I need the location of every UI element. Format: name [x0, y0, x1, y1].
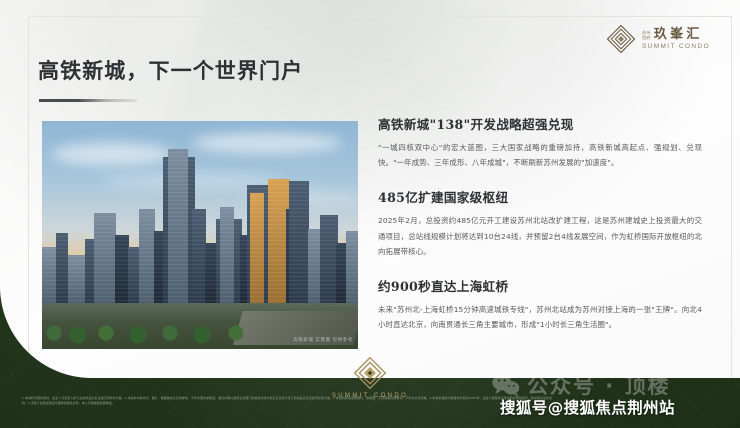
feature-section: 约900秒直达上海虹桥 未来"苏州北-上海虹桥15分钟高速城铁专线"，苏州北站成…: [378, 276, 702, 332]
title-underline: [39, 99, 137, 102]
brand-words: 苏州 首府 玖峯汇 SUMMIT CONDO: [642, 28, 710, 50]
feature-section: 485亿扩建国家级枢纽 2025年2月，总投资约485亿元开工建设苏州北站改扩建…: [378, 187, 702, 259]
photo-trees: [46, 321, 276, 345]
sohu-watermark: 搜狐号@搜狐焦点荆州站: [500, 396, 675, 418]
suzhou-north-station-skyline-photo: 高铁新城 实景图 仅供参考: [42, 121, 358, 349]
brand-tiny-bottom: 首府: [642, 35, 651, 40]
brand-lockup: 苏州 首府 玖峯汇 SUMMIT CONDO: [606, 24, 710, 54]
card-right-rule: [731, 16, 732, 378]
brand-name-cn: 玖峯汇: [654, 28, 703, 41]
content-card: 苏州 首府 玖峯汇 SUMMIT CONDO 高铁新城，下一个世界门户: [0, 0, 740, 378]
photo-watermark: 高铁新城 实景图 仅供参考: [293, 337, 353, 343]
feature-section: 高铁新城"138"开发战略超强兑现 "一城四核双中心"的宏大蓝图，三大国家战略的…: [378, 114, 702, 170]
feature-body: "一城四核双中心"的宏大蓝图，三大国家战略的重磅加持，高铁新城高起点、强规划、兑…: [378, 140, 702, 170]
feature-body: 2025年2月，总投资约485亿元开工建设苏州北站改扩建工程，这是苏州建城史上投…: [378, 213, 702, 259]
feature-heading: 高铁新城"138"开发战略超强兑现: [378, 114, 702, 133]
wechat-icon: [492, 373, 520, 397]
promo-page: 苏州 首府 玖峯汇 SUMMIT CONDO 高铁新城，下一个世界门户: [0, 0, 740, 428]
diamond-emblem-icon: [606, 24, 636, 54]
feature-body: 未来"苏州北-上海虹桥15分钟高速城铁专线"，苏州北站成为苏州对接上海的一张"王…: [378, 302, 702, 332]
brand-tiny-labels: 苏州 首府: [642, 30, 651, 42]
feature-heading: 约900秒直达上海虹桥: [378, 276, 702, 295]
brand-name-en: SUMMIT CONDO: [642, 44, 710, 50]
page-title: 高铁新城，下一个世界门户: [38, 55, 303, 85]
feature-heading: 485亿扩建国家级枢纽: [378, 187, 702, 206]
legal-disclaimer: 1.本资料为要约邀请，出卖人与买受人所订立的商品房买卖合同及附件为准。2.本资料…: [22, 396, 552, 407]
feature-text-column: 高铁新城"138"开发战略超强兑现 "一城四核双中心"的宏大蓝图，三大国家战略的…: [378, 114, 702, 349]
